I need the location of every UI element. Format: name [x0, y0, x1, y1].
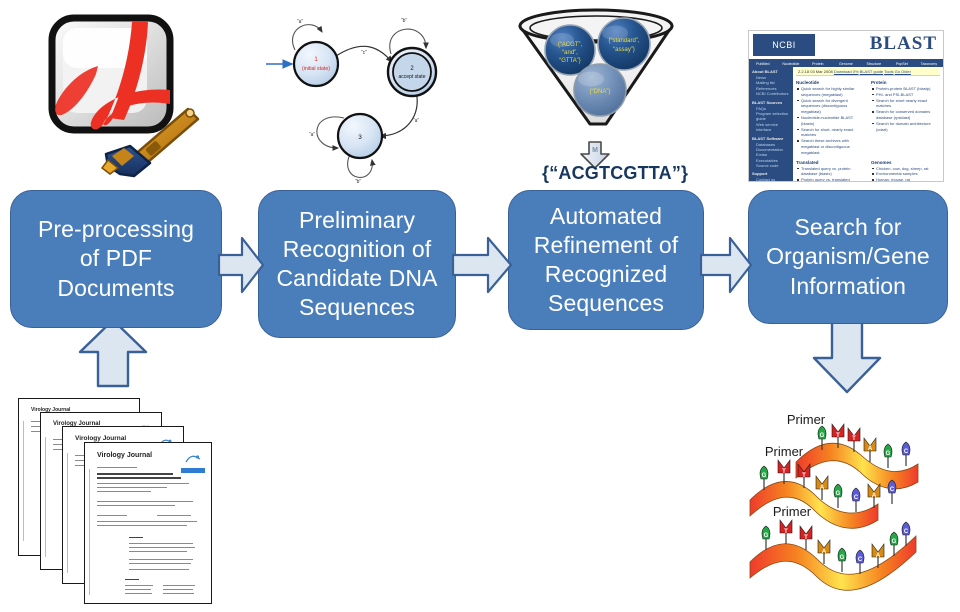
paper-text-line	[163, 593, 194, 594]
column-heading: Translated	[796, 160, 865, 165]
paper-journal-title: Virology Journal	[97, 452, 152, 459]
blast-column-translated: Translated Translated query vs. protein …	[796, 158, 865, 182]
topnav-item[interactable]: Nucleotide	[778, 61, 803, 66]
svg-text:C: C	[904, 449, 909, 455]
step-4-line-1: Search for	[766, 213, 930, 242]
arrow-step1-to-step2	[218, 234, 264, 296]
blast-link-item[interactable]: Quick search for divergent sequences (di…	[796, 98, 865, 115]
paper-text-line	[129, 547, 195, 548]
svg-text:T: T	[836, 433, 840, 439]
fsm-state-1-sublabel: (initial state)	[302, 66, 330, 72]
blast-column-nucleotide: Nucleotide Quick search for highly simil…	[796, 78, 865, 156]
sidebar-heading: BLAST Software	[752, 136, 790, 141]
paper-rail	[23, 421, 24, 541]
blast-topnav[interactable]: PubMed Nucleotide Protein Genome Structu…	[749, 59, 943, 67]
paper-text-line	[97, 491, 151, 492]
step-4-line-2: Organism/Gene	[766, 242, 930, 271]
svg-text:G: G	[764, 533, 769, 539]
svg-text:G: G	[892, 539, 897, 545]
process-box-preliminary-recognition[interactable]: Preliminary Recognition of Candidate DNA…	[258, 190, 456, 338]
funnel-token-dna: {“DNA”}	[574, 64, 626, 116]
svg-text:C: C	[904, 529, 909, 535]
blast-version: 2.2.18	[798, 69, 809, 74]
paper-rail	[67, 453, 68, 573]
paper-text-line	[97, 515, 127, 516]
fsm-state-3: 3	[338, 114, 382, 158]
paper-rail	[45, 437, 46, 557]
paper-text-line	[129, 569, 189, 570]
blast-date: 03 Mar 2008	[810, 69, 832, 74]
svg-text:T: T	[804, 535, 808, 541]
arrow-documents-to-step1	[78, 318, 148, 388]
topnav-item[interactable]: Taxonomy	[917, 61, 942, 66]
paper-open-access-badge	[181, 468, 205, 473]
blast-link-item[interactable]: Quick search for highly similar sequence…	[796, 86, 865, 98]
paper-text-line	[129, 563, 191, 564]
paper-text-line	[129, 559, 193, 560]
svg-text:C: C	[854, 495, 859, 501]
paper-text-line	[163, 589, 193, 590]
fsm-state-3-label: 3	[358, 134, 362, 141]
transition-label-1-2: “c”	[361, 50, 367, 56]
paper-text-line	[97, 483, 189, 484]
funnel-token-acgt-line2: “and”,	[562, 50, 578, 56]
blast-link-item[interactable]: Search for short, nearly exact matches	[796, 127, 865, 139]
svg-text:T: T	[852, 436, 856, 442]
blast-link-item[interactable]: Nucleotide-nucleotide BLAST (blastn)	[796, 115, 865, 127]
process-box-search-organism-gene[interactable]: Search for Organism/Gene Information	[748, 190, 948, 324]
blast-content: 2.2.18 03 Mar 2008 Download 0% BLAST gui…	[793, 67, 943, 181]
paper-text-line	[97, 521, 197, 522]
refinement-funnel: {“ACGT”, “and”, “GTTA”} {“standard”, “as…	[506, 6, 686, 146]
funnel-token-standard-line2: “assay”}	[613, 47, 635, 53]
step-3-line-1: Automated	[534, 202, 679, 231]
funnel-token-dna-line1: {“DNA”}	[590, 89, 611, 95]
svg-text:A: A	[820, 485, 825, 491]
primer-label-2: Primer	[765, 444, 804, 459]
blast-link-item[interactable]: Search for domain architecture (cdart)	[871, 121, 940, 133]
step-2-line-2: Recognition of	[276, 235, 437, 264]
blast-link-item[interactable]: Protein query vs. translated database (t…	[796, 177, 865, 182]
blast-link-tools[interactable]: Tools	[884, 69, 893, 74]
paper-section-heading	[129, 537, 143, 538]
step-1-line-2: of PDF	[38, 244, 194, 273]
paper-section-heading	[125, 579, 139, 580]
topnav-item[interactable]: PopSet	[889, 61, 914, 66]
fsm-state-1: 1 (initial state)	[294, 42, 338, 86]
funnel-token-standard-line1: {“standard”,	[608, 38, 639, 44]
fsm-state-2: 2 accept state	[388, 48, 436, 96]
step-2-line-3: Candidate DNA	[276, 264, 437, 293]
blast-column-genomes: Genomes Chicken, cow, dog, sheep, rat En…	[871, 158, 940, 182]
step-3-line-4: Sequences	[534, 289, 679, 318]
step-3-line-2: Refinement of	[534, 231, 679, 260]
svg-text:G: G	[886, 451, 891, 457]
sidebar-group-support: Support Contact us	[752, 171, 790, 182]
sidebar-heading: About BLAST	[752, 69, 790, 74]
fsm-state-2-sublabel: accept state	[399, 74, 426, 80]
blast-link-guide[interactable]: BLAST guide	[860, 69, 884, 74]
svg-text:A: A	[868, 446, 873, 452]
blast-wordmark: BLAST	[870, 33, 937, 55]
paper-text-line	[97, 487, 167, 488]
svg-text:G: G	[836, 491, 841, 497]
funnel-token-standard: {“standard”, “assay”}	[598, 18, 650, 70]
sidebar-item-program-guide[interactable]: Program selection guide	[752, 111, 790, 122]
step-3-line-3: Recognized	[534, 260, 679, 289]
blast-link-download[interactable]: Download 0%	[834, 69, 859, 74]
svg-text:A: A	[876, 553, 881, 559]
svg-text:C: C	[890, 487, 895, 493]
paper-text-line	[97, 505, 175, 506]
primer-label-3: Primer	[773, 504, 812, 519]
paper-text-line	[163, 585, 195, 586]
ncbi-blast-page-screenshot: NCBI BLAST PubMed Nucleotide Protein Gen…	[748, 30, 944, 182]
step-2-line-1: Preliminary	[276, 206, 437, 235]
paper-text-line	[97, 473, 173, 475]
blast-column-protein: Protein Protein-protein BLAST (blastp) P…	[871, 78, 940, 156]
dna-primer-illustration: G T T A G C Primer	[740, 408, 956, 600]
blast-link-item[interactable]: Human, mouse, rat	[871, 177, 940, 182]
column-heading: Nucleotide	[796, 80, 865, 85]
sidebar-heading: Support	[752, 171, 790, 176]
process-box-automated-refinement[interactable]: Automated Refinement of Recognized Seque…	[508, 190, 704, 330]
svg-text:T: T	[782, 469, 786, 475]
diagram-canvas: “a” “c” “b” “a” “a” “b” 1 (initial state	[0, 0, 960, 612]
paper-text-line	[125, 585, 153, 586]
sidebar-heading: BLAST Sources	[752, 100, 790, 105]
blast-header: NCBI BLAST	[749, 31, 943, 59]
svg-text:A: A	[822, 549, 827, 555]
blast-link-item[interactable]: Translated query vs. protein database (b…	[796, 166, 865, 178]
sidebar-item-contact-us[interactable]: Contact us	[752, 177, 790, 182]
topnav-item[interactable]: Protein	[806, 61, 831, 66]
step-2-line-4: Sequences	[276, 293, 437, 322]
paper-text-line	[97, 525, 187, 526]
blast-link-item[interactable]: Search these archives with megablast or …	[796, 138, 865, 155]
svg-text:T: T	[784, 529, 788, 535]
process-box-preprocessing[interactable]: Pre-processing of PDF Documents	[10, 190, 222, 328]
svg-text:G: G	[762, 473, 767, 479]
funnel-token-acgt-line3: “GTTA”}	[559, 58, 581, 64]
pdf-paper-stack: Virology Journal Virology Journal Virolo…	[18, 398, 228, 606]
ncbi-logo: NCBI	[753, 34, 815, 56]
acrobat-pdf-wrench-icon	[38, 8, 208, 178]
step-4-line-3: Information	[766, 272, 930, 301]
svg-text:C: C	[858, 557, 863, 563]
blast-sidebar[interactable]: About BLAST News Mailing list References…	[749, 67, 793, 181]
svg-text:A: A	[872, 493, 877, 499]
paper-text-line	[129, 543, 193, 544]
dna-strand-1: G T T A G C Primer	[787, 412, 918, 489]
finite-state-automaton: “a” “c” “b” “a” “a” “b” 1 (initial state	[264, 6, 454, 186]
funnel-output-sequence: {“ACGTCGTTA”}	[542, 163, 688, 184]
paper-sheet-front: Virology Journal	[84, 442, 212, 604]
paper-text-line	[125, 593, 152, 594]
blast-link-item[interactable]: Search for short nearly exact matches	[871, 98, 940, 110]
sidebar-group-about-blast: About BLAST News Mailing list References…	[752, 69, 790, 97]
paper-text-line	[129, 551, 187, 552]
blast-column-row-2: Translated Translated query vs. protein …	[796, 158, 940, 182]
paper-text-line	[97, 467, 137, 468]
svg-text:G: G	[840, 555, 845, 561]
arrow-step4-to-results	[812, 318, 882, 394]
transition-label-2-3: “a”	[413, 118, 419, 124]
sidebar-group-blast-sources: BLAST Sources FAQs Program selection gui…	[752, 100, 790, 133]
transition-label-2-2: “b”	[401, 18, 407, 24]
paper-text-line	[97, 501, 193, 502]
svg-text:M: M	[592, 147, 598, 154]
paper-text-line	[97, 477, 181, 479]
topnav-item[interactable]: PubMed	[750, 61, 775, 66]
topnav-item[interactable]: Genome	[834, 61, 859, 66]
blast-link-older[interactable]: Go Older	[895, 69, 911, 74]
sidebar-group-blast-software: BLAST Software Databases Documentation E…	[752, 136, 790, 169]
transition-label-3-3-a: “a”	[309, 132, 315, 138]
step-1-line-3: Documents	[38, 274, 194, 303]
svg-text:T: T	[802, 473, 806, 479]
arrow-step3-to-step4	[700, 234, 752, 296]
transition-label-3-3-b: “b”	[355, 179, 361, 185]
column-heading: Protein	[871, 80, 940, 85]
paper-logo	[185, 452, 201, 463]
step-1-line-1: Pre-processing	[38, 215, 194, 244]
svg-text:G: G	[820, 433, 825, 439]
paper-text-line	[157, 515, 191, 516]
paper-journal-title: Virology Journal	[75, 435, 126, 442]
column-heading: Genomes	[871, 160, 940, 165]
paper-text-line	[125, 589, 151, 590]
blast-column-row-1: Nucleotide Quick search for highly simil…	[796, 78, 940, 156]
paper-rail	[89, 469, 90, 595]
sidebar-item-contributors[interactable]: NCBI Contributors	[752, 91, 790, 96]
primer-label-1: Primer	[787, 412, 826, 427]
topnav-item[interactable]: Structure	[861, 61, 886, 66]
arrow-step2-to-step3	[452, 234, 512, 296]
blast-version-strip: 2.2.18 03 Mar 2008 Download 0% BLAST gui…	[796, 68, 940, 76]
transition-label-1-1: “a”	[297, 19, 303, 25]
sidebar-item-web-service[interactable]: Web service interface	[752, 122, 790, 133]
funnel-token-acgt-line1: {“ACGT”,	[558, 42, 583, 48]
sidebar-item-source-code[interactable]: Source code	[752, 163, 790, 168]
blast-link-item[interactable]: Search for conserved domains database (r…	[871, 109, 940, 121]
